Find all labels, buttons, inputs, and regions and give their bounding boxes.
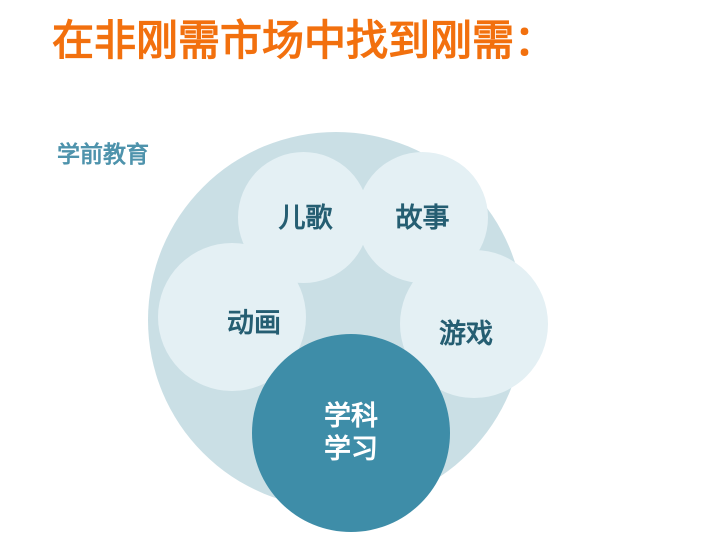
petal-label: 动画 xyxy=(227,308,281,338)
petal-label: 游戏 xyxy=(439,319,493,349)
core-label-line-2: 学习 xyxy=(324,433,378,466)
core-label-line-1: 学科 xyxy=(324,400,378,433)
diagram-category-label: 学前教育 xyxy=(57,139,149,169)
core-circle-subject-study[interactable]: 学科 学习 xyxy=(252,334,450,532)
concentric-circles-diagram: 儿歌 故事 动画 游戏 学科 学习 xyxy=(148,132,556,508)
slide-canvas: 在非刚需市场中找到刚需： 学前教育 儿歌 故事 动画 游戏 学科 学习 xyxy=(0,0,720,540)
page-title: 在非刚需市场中找到刚需： xyxy=(52,14,692,68)
petal-label: 故事 xyxy=(396,203,450,233)
petal-label: 儿歌 xyxy=(279,203,333,233)
